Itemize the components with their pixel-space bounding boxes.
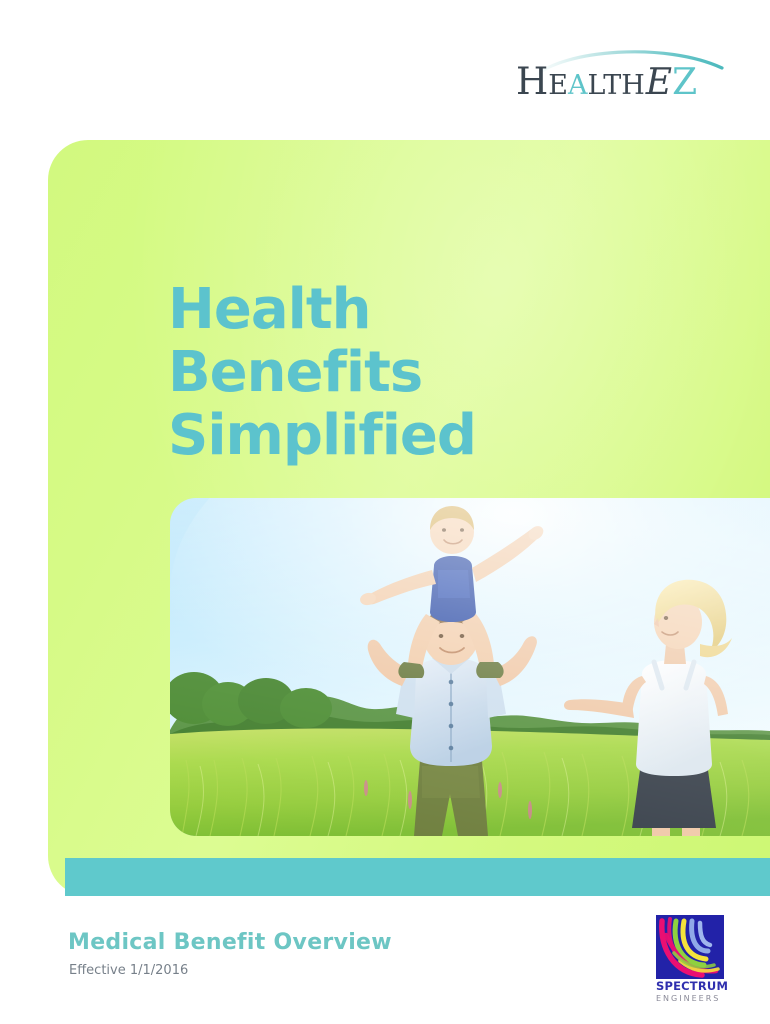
family-outdoors-photo: [170, 498, 770, 836]
page-canvas: HEALTHEZ Health Benefits Simplified: [0, 0, 770, 1024]
wordmark-h: H: [516, 60, 548, 103]
page-title: Health Benefits Simplified: [168, 278, 648, 467]
accent-band: [65, 858, 770, 896]
wordmark-ez-e: E: [645, 62, 672, 103]
headline-line-2: Benefits: [168, 341, 648, 404]
concentric-arcs-icon: [656, 915, 724, 979]
headline-line-3: Simplified: [168, 404, 648, 467]
headline-line-1: Health: [168, 278, 648, 341]
spectrum-engineers-logo: SPECTRUM ENGINEERS: [656, 915, 732, 1007]
document-subtitle: Medical Benefit Overview: [68, 929, 392, 957]
wordmark-lth: LTH: [588, 70, 645, 101]
healthez-logo: HEALTHEZ: [516, 44, 740, 106]
wordmark-e: E: [548, 70, 568, 101]
wordmark-a: A: [568, 70, 588, 101]
healthez-wordmark: HEALTHEZ: [516, 58, 740, 106]
partner-subtitle: ENGINEERS: [656, 994, 730, 1004]
effective-date: Effective 1/1/2016: [69, 962, 188, 980]
wordmark-ez-z: Z: [672, 62, 697, 103]
partner-name: SPECTRUM: [656, 980, 726, 993]
